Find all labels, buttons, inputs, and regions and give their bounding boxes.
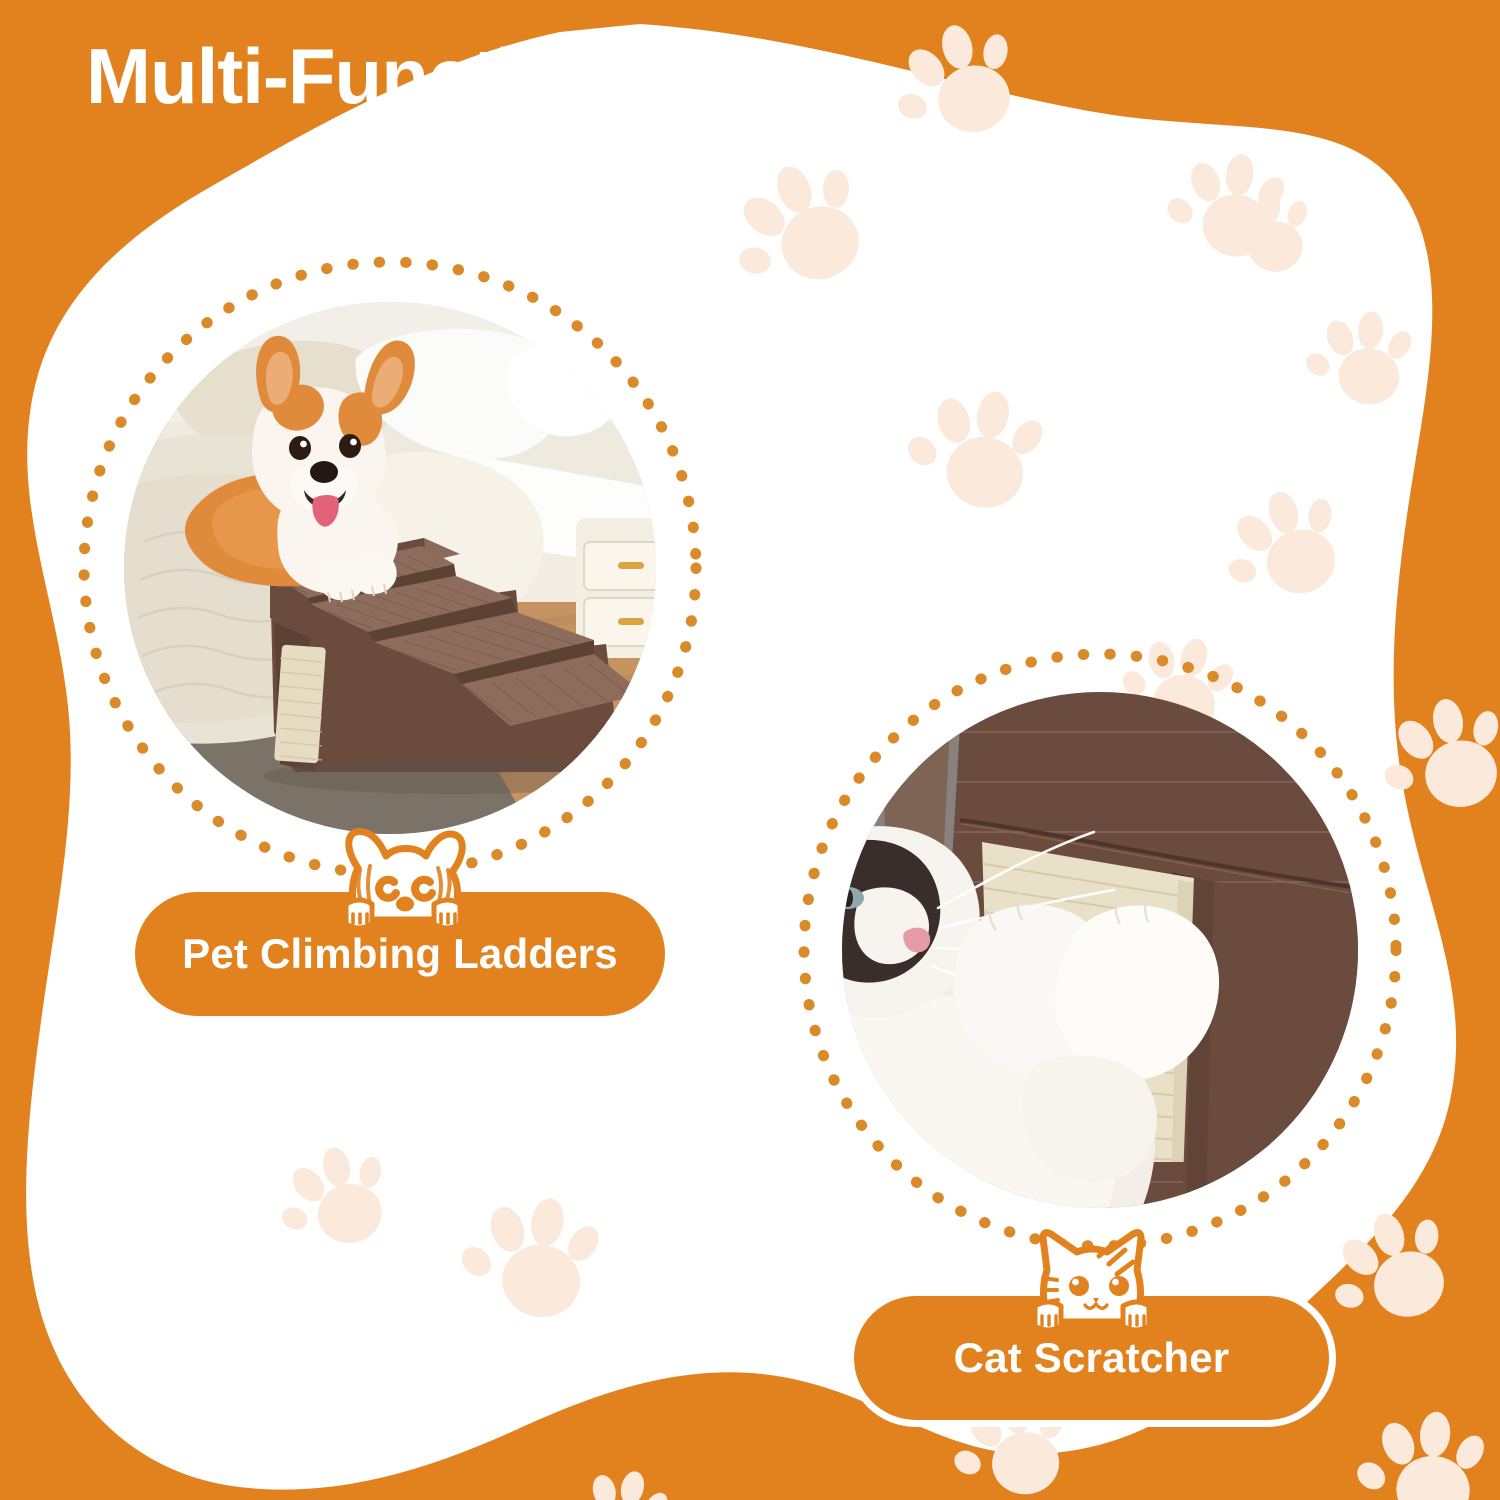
infographic-poster: Multi-Function <box>0 0 1500 1500</box>
badge-label-pet-climbing-ladders: Pet Climbing Ladders <box>182 930 618 978</box>
badge-pet-climbing-ladders[interactable]: Pet Climbing Ladders <box>135 892 665 1016</box>
badge-cat-scratcher[interactable]: Cat Scratcher <box>854 1296 1329 1420</box>
page-title: Multi-Function <box>86 36 609 118</box>
panel-cat-scratcher: Cat Scratcher <box>790 640 1410 1260</box>
panel-pet-climbing-ladders: Pet Climbing Ladders <box>70 248 710 888</box>
badge-label-cat-scratcher: Cat Scratcher <box>954 1334 1230 1382</box>
dog-face-icon <box>330 824 470 934</box>
photo-cat-scratcher <box>842 692 1358 1208</box>
photo-pet-climbing-ladders <box>124 302 656 834</box>
cat-face-icon <box>1025 1226 1159 1338</box>
